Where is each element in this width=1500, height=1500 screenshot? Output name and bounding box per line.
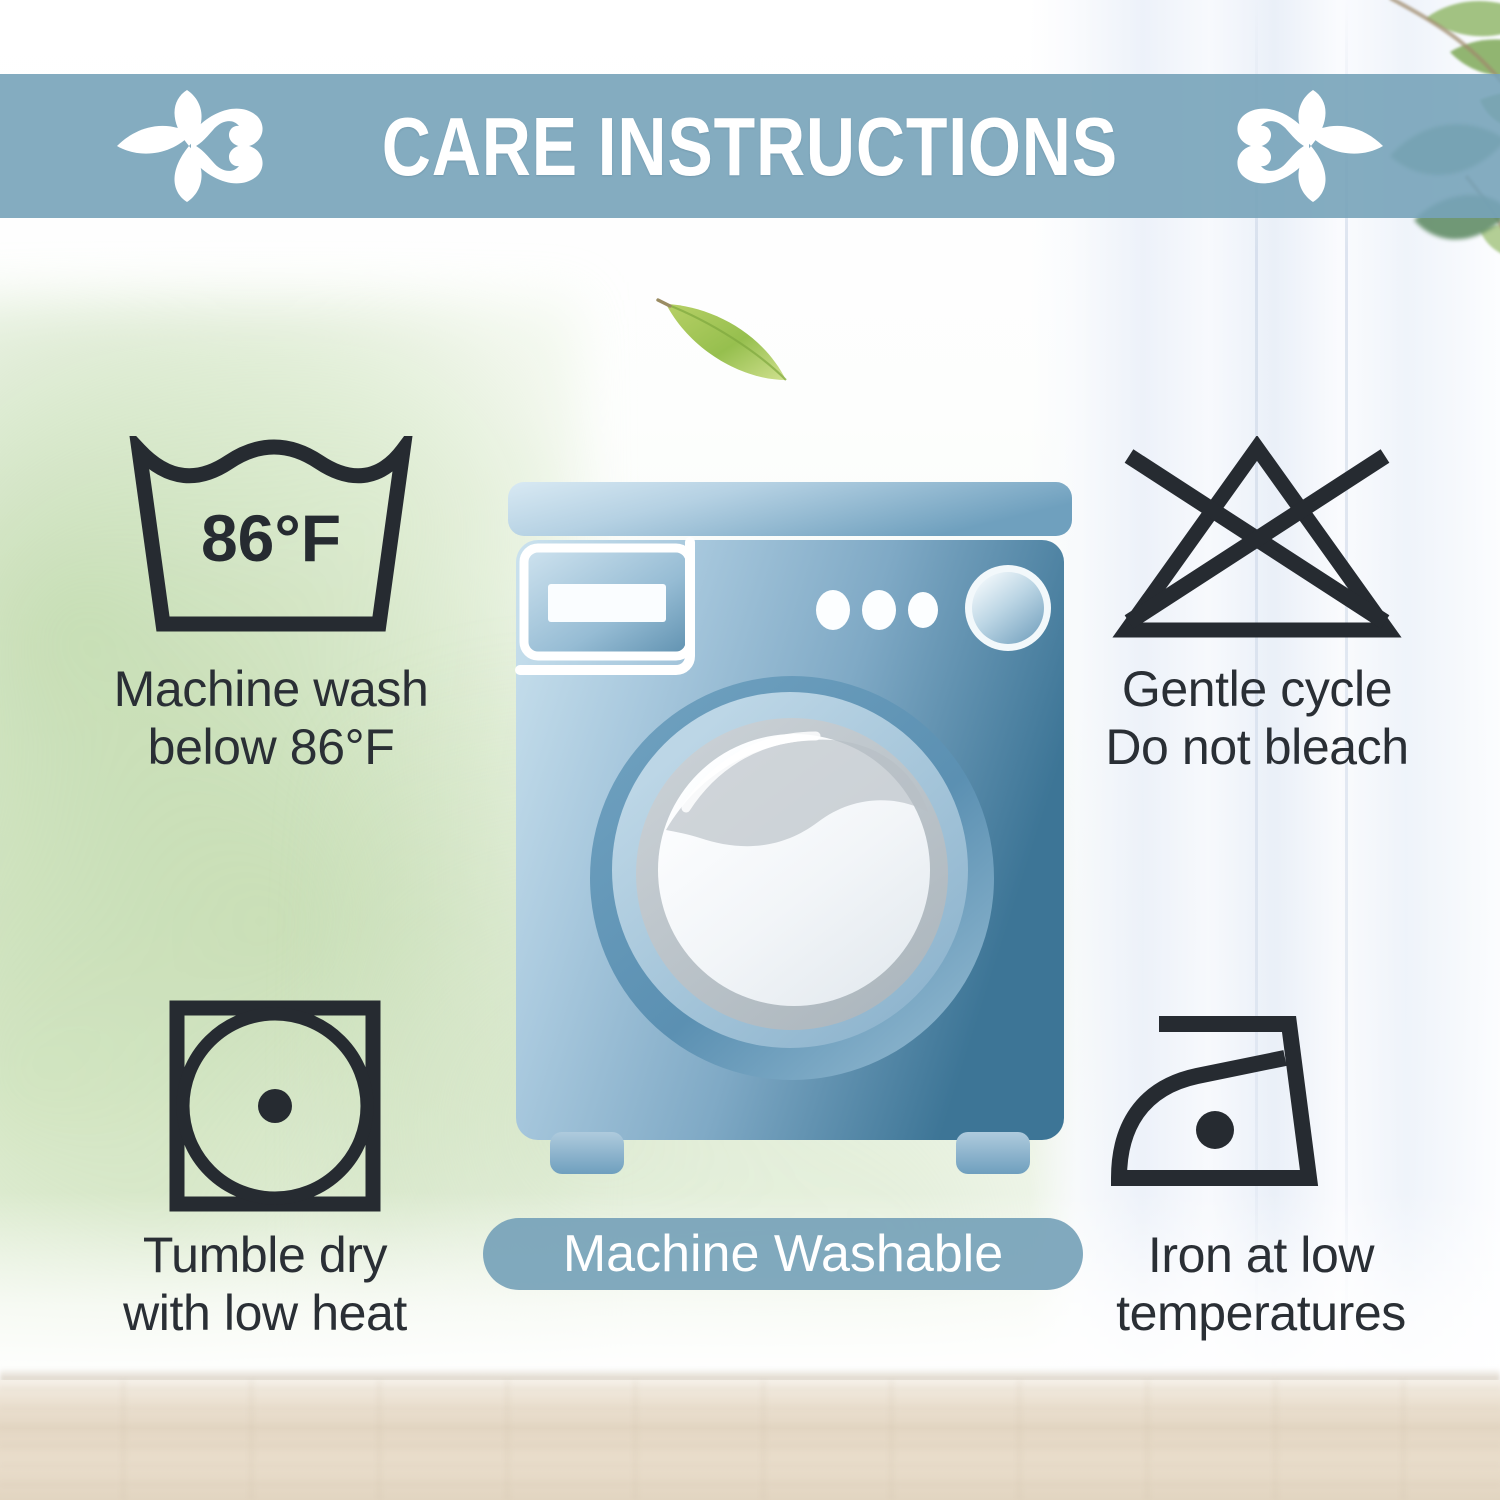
- care-symbol-do-not-bleach: Gentle cycle Do not bleach: [1022, 436, 1492, 776]
- care-caption-tumble-dry: Tumble dry with low heat: [123, 1226, 407, 1342]
- caption-line-1: Gentle cycle: [1105, 660, 1408, 718]
- care-caption-iron: Iron at low temperatures: [1116, 1226, 1406, 1342]
- indicator-light-2: [862, 590, 896, 630]
- caption-line-1: Machine wash: [114, 660, 429, 718]
- care-instructions-graphic: CARE INSTRUCTIONS 86°F Machine wash belo…: [0, 0, 1500, 1500]
- wash-temperature-label: 86°F: [201, 501, 341, 575]
- fleur-de-lis-ornament-right-icon: [1233, 88, 1383, 204]
- caption-line-1: Tumble dry: [123, 1226, 407, 1284]
- washer-foot-right: [956, 1132, 1030, 1174]
- care-caption-do-not-bleach: Gentle cycle Do not bleach: [1105, 660, 1408, 776]
- triangle-crossed-out-icon: [1107, 436, 1407, 646]
- caption-line-2: temperatures: [1116, 1284, 1406, 1342]
- indicator-light-1: [816, 590, 850, 630]
- caption-line-2: with low heat: [123, 1284, 407, 1342]
- indicator-light-3: [908, 592, 938, 628]
- wooden-surface-grain: [0, 1380, 1500, 1500]
- caption-line-2: Do not bleach: [1105, 718, 1408, 776]
- fleur-de-lis-ornament-left-icon: [117, 88, 267, 204]
- iron-low-temperature-icon: [1111, 1000, 1411, 1212]
- badge-label: Machine Washable: [563, 1228, 1003, 1280]
- tumble-dry-low-heat-icon: [115, 1000, 415, 1212]
- caption-line-1: Iron at low: [1116, 1226, 1406, 1284]
- control-dial-inner: [972, 572, 1044, 644]
- care-instructions-banner: CARE INSTRUCTIONS: [0, 74, 1500, 218]
- care-caption-machine-wash: Machine wash below 86°F: [114, 660, 429, 776]
- care-symbol-iron: Iron at low temperatures: [1026, 1000, 1496, 1342]
- care-symbol-machine-wash: 86°F Machine wash below 86°F: [36, 436, 506, 776]
- machine-washable-badge: Machine Washable: [483, 1218, 1083, 1290]
- washing-machine-illustration: [500, 478, 1080, 1178]
- wash-tub-icon: 86°F: [121, 436, 421, 646]
- washer-foot-left: [550, 1132, 624, 1174]
- caption-line-2: below 86°F: [114, 718, 429, 776]
- page-title: CARE INSTRUCTIONS: [382, 105, 1118, 188]
- care-symbol-tumble-dry: Tumble dry with low heat: [30, 1000, 500, 1342]
- floating-leaf-icon: [650, 272, 800, 392]
